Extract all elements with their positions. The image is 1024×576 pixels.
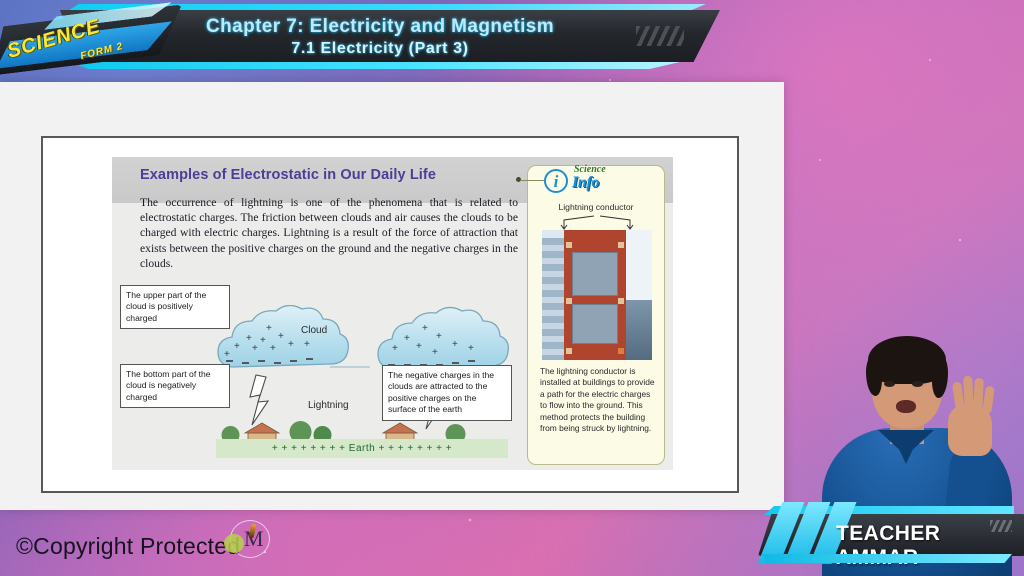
- callout-bottom-cloud: The bottom part of the cloud is negative…: [120, 364, 230, 408]
- science-info-card: i Science Info Lightning conductor: [527, 165, 665, 465]
- svg-text:+: +: [278, 331, 284, 342]
- presenter-hair-right: [932, 356, 948, 398]
- photo-red-building: [564, 230, 626, 360]
- leader-line: [520, 180, 546, 181]
- svg-text:+: +: [436, 331, 442, 342]
- building-photo: [542, 230, 652, 360]
- conductor-mount: [618, 298, 624, 304]
- svg-text:+: +: [452, 339, 458, 350]
- conductor-mount: [618, 242, 624, 248]
- conductor-mount: [566, 242, 572, 248]
- svg-text:+: +: [266, 323, 272, 334]
- watermark-subtext: ▪: [264, 550, 266, 556]
- textbook-page-image: Examples of Electrostatic in Our Daily L…: [112, 157, 673, 470]
- slide-panel: Examples of Electrostatic in Our Daily L…: [0, 82, 784, 510]
- section-paragraph: The occurrence of lightning is one of th…: [140, 195, 518, 271]
- conductor-mount: [618, 348, 624, 354]
- presenter-hair-left: [866, 356, 882, 396]
- svg-text:+: +: [432, 347, 438, 358]
- subject-badge: SCIENCE FORM 2: [0, 6, 202, 74]
- svg-text:+: +: [252, 343, 258, 354]
- photo-sky: [626, 230, 652, 300]
- presenter-finger: [963, 376, 974, 412]
- presenter-brow-right: [910, 374, 928, 378]
- label-cloud: Cloud: [301, 325, 327, 336]
- svg-text:+: +: [270, 343, 276, 354]
- presenter-brow-left: [882, 374, 900, 378]
- info-icon: i: [544, 169, 568, 193]
- watermark-logo: M ▪: [222, 520, 278, 560]
- presenter-eye-left: [884, 381, 895, 387]
- svg-text:+: +: [260, 335, 266, 346]
- science-info-text: The lightning conductor is installed at …: [540, 366, 656, 434]
- presenter-eye-right: [912, 381, 923, 387]
- svg-text:+: +: [468, 343, 474, 354]
- photo-window: [572, 304, 618, 344]
- namebar-slash-decor: [990, 520, 1012, 532]
- svg-text:+: +: [422, 323, 428, 334]
- svg-text:+: +: [224, 349, 230, 360]
- header-banner: Chapter 7: Electricity and Magnetism 7.1…: [0, 4, 722, 70]
- svg-text:+: +: [416, 341, 422, 352]
- presenter-name-bar: TEACHER AMMAR: [748, 506, 1024, 562]
- photo-window: [572, 252, 618, 296]
- callout-upper-cloud: The upper part of the cloud is positivel…: [120, 285, 230, 329]
- science-info-logo: i Science Info: [538, 164, 658, 198]
- namebar-bottom-accent: [762, 554, 1012, 563]
- photo-left-building: [542, 238, 564, 360]
- conductor-mount: [566, 348, 572, 354]
- svg-text:+: +: [288, 339, 294, 350]
- conductor-mount: [566, 298, 572, 304]
- content-frame: Examples of Electrostatic in Our Daily L…: [41, 136, 739, 493]
- copyright-text: ©Copyright Protected: [16, 533, 240, 560]
- presenter-mouth: [896, 400, 916, 413]
- svg-text:+: +: [404, 333, 410, 344]
- caption-arrows: [550, 214, 644, 230]
- section-heading: Examples of Electrostatic in Our Daily L…: [140, 167, 436, 183]
- watermark-dot: [224, 534, 244, 553]
- earth-strip: + + + + + + + + Earth + + + + + + + +: [216, 439, 508, 458]
- svg-text:+: +: [304, 339, 310, 350]
- photo-right-building: [626, 300, 652, 360]
- svg-text:+: +: [392, 343, 398, 354]
- label-lightning: Lightning: [308, 400, 349, 411]
- presenter-finger: [982, 386, 995, 415]
- callout-negative-charges: The negative charges in the clouds are a…: [382, 365, 512, 421]
- photo-caption: Lightning conductor: [528, 202, 664, 212]
- science-info-logo-bottom: Info: [572, 174, 599, 192]
- svg-text:+: +: [234, 341, 240, 352]
